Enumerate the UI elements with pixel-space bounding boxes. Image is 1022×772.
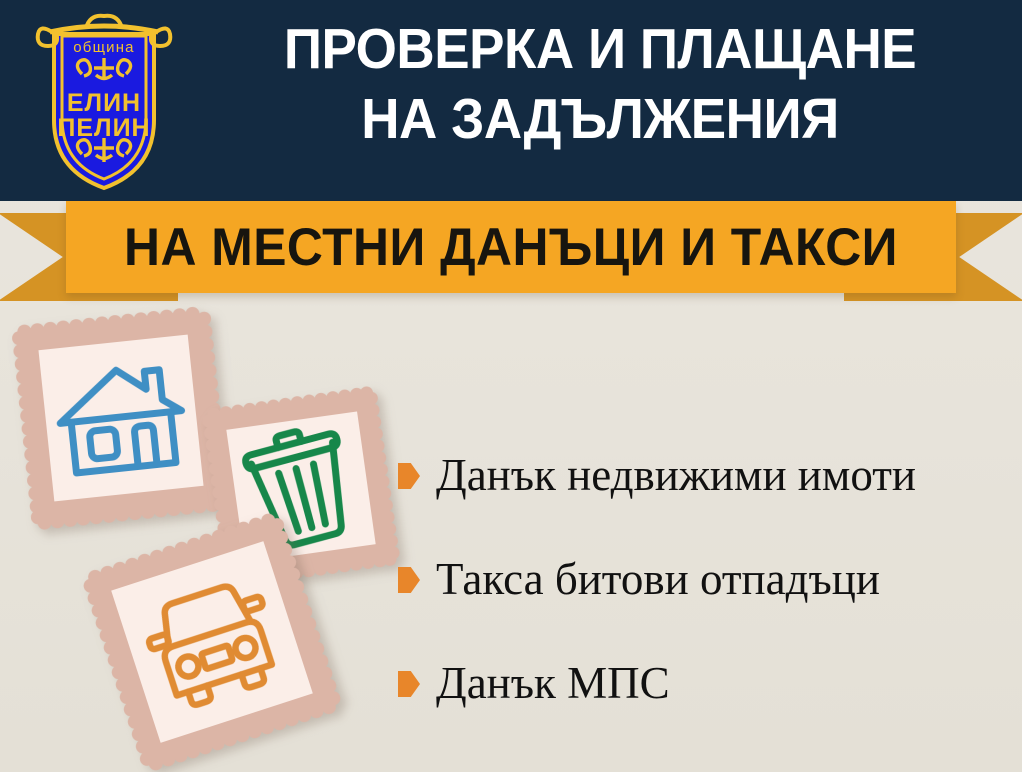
poster-canvas: ПРОВЕРКА И ПЛАЩАНЕ НА ЗАДЪЛЖЕНИЯ	[0, 0, 1022, 772]
list-item[interactable]: Данък МПС	[398, 632, 1008, 736]
page-title: ПРОВЕРКА И ПЛАЩАНЕ НА ЗАДЪЛЖЕНИЯ	[214, 14, 986, 154]
list-item[interactable]: Данък недвижими имоти	[398, 424, 1008, 528]
list-item-label: Данък недвижими имоти	[436, 452, 916, 499]
list-item[interactable]: Такса битови отпадъци	[398, 528, 1008, 632]
logo-name-line-2: ПЕЛИН	[57, 114, 150, 142]
ribbon-banner: НА МЕСТНИ ДАНЪЦИ И ТАКСИ	[66, 201, 956, 293]
logo-municipality-word: община	[73, 39, 134, 56]
ribbon-label: НА МЕСТНИ ДАНЪЦИ И ТАКСИ	[93, 201, 930, 293]
arrow-bullet-icon	[398, 463, 420, 489]
list-item-label: Данък МПС	[436, 660, 670, 707]
municipality-logo: община ЕЛИН ПЕЛИН	[24, 8, 184, 194]
arrow-bullet-icon	[398, 671, 420, 697]
logo-name-line-1: ЕЛИН	[67, 89, 141, 117]
coat-of-arms-icon: община ЕЛИН ПЕЛИН	[24, 8, 184, 194]
list-item-label: Такса битови отпадъци	[436, 556, 880, 603]
services-list: Данък недвижими имоти Такса битови отпад…	[398, 424, 1008, 736]
arrow-bullet-icon	[398, 567, 420, 593]
